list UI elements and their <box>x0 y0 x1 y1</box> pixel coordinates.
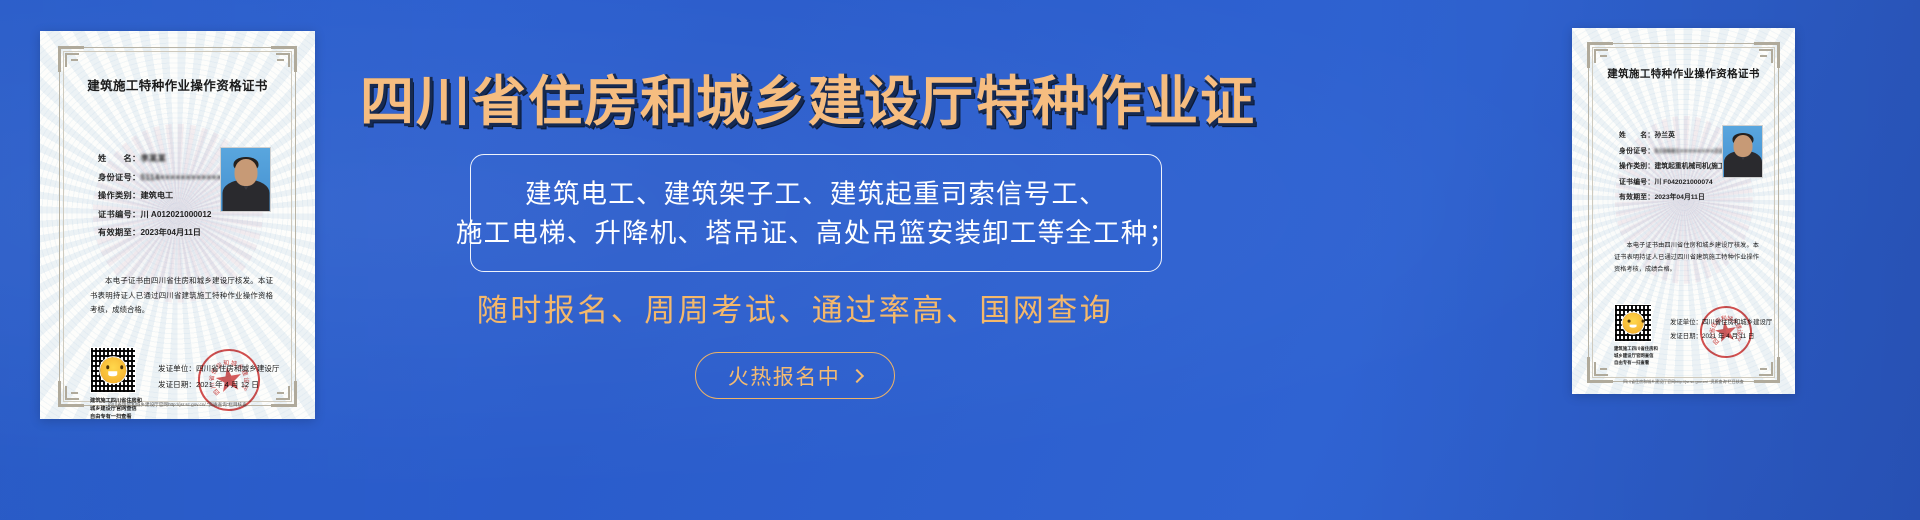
banner-headline: 四川省住房和城乡建设厅特种作业证 <box>360 74 1230 130</box>
field-label: 姓 名： <box>1619 132 1654 139</box>
field-value: 孙兰英 <box>1654 132 1674 139</box>
field-value: 川 A012021000012 <box>140 210 211 219</box>
chevron-right-icon <box>850 368 864 382</box>
seal-ring-text: 四川省住房和城乡建设厅 <box>1699 305 1754 360</box>
qr-center-emoji <box>100 357 126 383</box>
certificate-footer-note: 四川省住房和城乡建设厅官网http://jsr.sc.gov.cn/ “资质查询… <box>1572 379 1795 385</box>
banner-content: 四川省住房和城乡建设厅特种作业证 建筑电工、建筑架子工、建筑起重司索信号工、 施… <box>360 0 1230 520</box>
field-label: 身份证号： <box>98 173 140 182</box>
issue-date-label: 发证日期： <box>1670 333 1702 340</box>
certificate-card-right: 建筑施工特种作业操作资格证书 姓 名：孙兰英 身份证号：510681××××××… <box>1572 28 1795 394</box>
certificate-field-row: 有效期至：2023年04月11日 <box>98 224 232 243</box>
field-value: 建筑电工 <box>140 191 173 200</box>
red-official-seal-icon: 四川省住房和城乡建设厅 <box>1696 302 1755 361</box>
scope-line-2: 施工电梯、升降机、塔吊证、高处吊篮安装卸工等全工种； <box>456 218 1176 248</box>
id-portrait-photo <box>220 147 271 212</box>
certificate-footer-note: 四川省住房和城乡建设厅官网http://jsr.sc.gov.cn/ “资质查询… <box>40 402 315 408</box>
qr-center-emoji <box>1623 313 1644 334</box>
certificate-field-list: 姓 名：李某某 身份证号：5114×××××××××××××× 操作类别：建筑电… <box>98 150 232 243</box>
field-label: 操作类别： <box>98 191 140 200</box>
certificate-statement: 本电子证书由四川省住房和城乡建设厅核发。本证书表明持证人已通过四川省建筑施工特种… <box>1614 240 1759 276</box>
field-value: 川 F042021000074 <box>1654 179 1712 186</box>
banner-tagline: 随时报名、周周考试、通过率高、国网查询 <box>360 285 1230 330</box>
field-label: 有效期至： <box>1619 194 1654 201</box>
field-value: 510681××××××××2221 <box>1654 148 1731 155</box>
certificate-card-left: 建筑施工特种作业操作资格证书 姓 名：李某某 身份证号：5114××××××××… <box>40 31 315 419</box>
certificate-field-row: 操作类别：建筑电工 <box>98 187 232 206</box>
certificate-title: 建筑施工特种作业操作资格证书 <box>1572 66 1795 81</box>
qr-caption: 建筑施工四川省住房和 城乡建设厅官网查信 自由专有一扫查看 <box>1614 346 1658 366</box>
enroll-now-label: 火热报名中 <box>728 361 841 391</box>
certificate-title: 建筑施工特种作业操作资格证书 <box>40 75 315 94</box>
portrait-head <box>1733 135 1752 157</box>
portrait-head <box>234 159 257 186</box>
field-label: 证书编号： <box>1619 179 1654 186</box>
certificate-statement-text: 本电子证书由四川省住房和城乡建设厅核发。本证书表明持证人已通过四川省建筑施工特种… <box>90 276 273 314</box>
field-label: 证书编号： <box>98 210 140 219</box>
issue-unit-label: 发证单位： <box>1670 319 1702 326</box>
field-label: 有效期至： <box>98 228 140 237</box>
field-label: 姓 名： <box>98 154 140 163</box>
qr-code-icon <box>1614 304 1652 342</box>
field-label: 操作类别： <box>1619 163 1654 170</box>
qr-code-icon <box>90 347 136 393</box>
issue-date-label: 发证日期： <box>158 380 196 389</box>
certificate-field-row: 身份证号：5114×××××××××××××× <box>98 169 232 188</box>
field-value: 2023年04月11日 <box>140 228 201 237</box>
scope-list-box: 建筑电工、建筑架子工、建筑起重司索信号工、 施工电梯、升降机、塔吊证、高处吊篮安… <box>470 154 1162 272</box>
certificate-field-row: 证书编号：川 A012021000012 <box>98 206 232 225</box>
certificate-field-row: 有效期至：2023年04月11日 <box>1619 190 1747 206</box>
field-value: 李某某 <box>140 154 166 163</box>
field-value: 2023年04月11日 <box>1654 194 1704 201</box>
id-portrait-photo <box>1722 125 1763 178</box>
enroll-now-button[interactable]: 火热报名中 <box>695 352 895 399</box>
field-value: 5114×××××××××××××× <box>140 173 232 182</box>
certificate-statement: 本电子证书由四川省住房和城乡建设厅核发。本证书表明持证人已通过四川省建筑施工特种… <box>90 274 273 318</box>
certificate-statement-text: 本电子证书由四川省住房和城乡建设厅核发。本证书表明持证人已通过四川省建筑施工特种… <box>1614 242 1759 273</box>
qr-caption: 建筑施工四川省住房和 城乡建设厅官网查信 自由专有一扫查看 <box>90 397 142 419</box>
issue-unit-label: 发证单位： <box>158 364 196 373</box>
certificate-field-row: 姓 名：李某某 <box>98 150 232 169</box>
promo-banner: 建筑施工特种作业操作资格证书 姓 名：李某某 身份证号：5114××××××××… <box>0 0 1920 520</box>
scope-line-1: 建筑电工、建筑架子工、建筑起重司索信号工、 <box>525 179 1107 209</box>
field-label: 身份证号： <box>1619 148 1654 155</box>
